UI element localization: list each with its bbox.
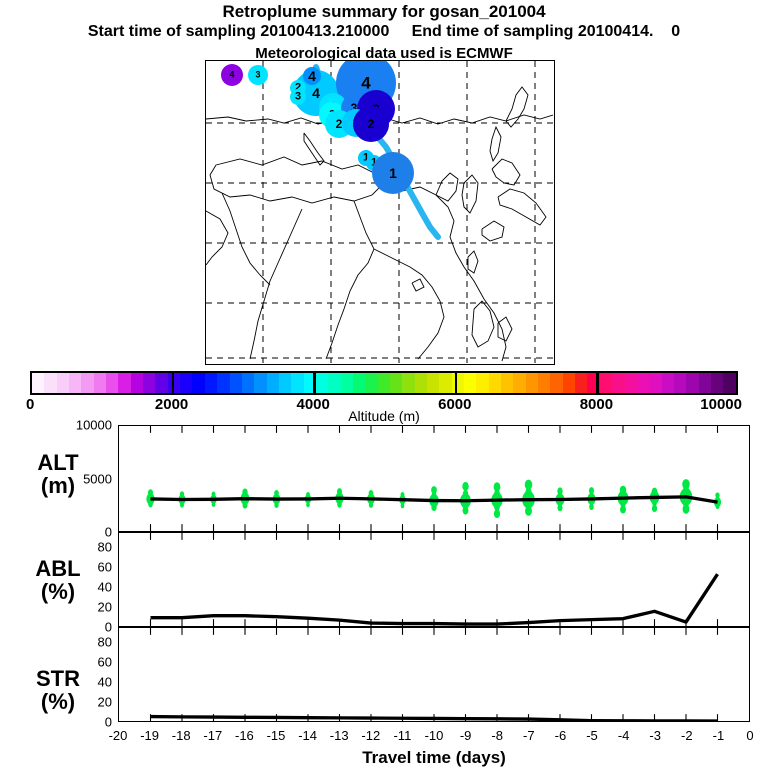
colorbar-swatch (279, 373, 291, 393)
alt-scatter-marker (589, 492, 593, 498)
colorbar-swatch (192, 373, 204, 393)
x-axis-title: Travel time (days) (118, 748, 750, 768)
x-axis-tick: -8 (491, 728, 503, 743)
alt-scatter-marker (494, 503, 500, 511)
colorbar-swatch (600, 373, 612, 393)
colorbar-swatch (464, 373, 476, 393)
abl-y-tick: 60 (30, 560, 112, 575)
colorbar-swatch (452, 373, 464, 393)
colorbar-swatch (94, 373, 106, 393)
colorbar-swatch (205, 373, 217, 393)
colorbar-swatch (143, 373, 155, 393)
colorbar-swatch (550, 373, 562, 393)
x-axis-tick: -9 (460, 728, 472, 743)
map-marker (372, 152, 414, 194)
x-axis-tick: -14 (298, 728, 317, 743)
colorbar-swatch (390, 373, 402, 393)
x-axis-tick: -19 (140, 728, 159, 743)
colorbar-swatch (57, 373, 69, 393)
colorbar-separator (313, 371, 316, 395)
map-marker (353, 106, 389, 142)
alt-scatter-marker (463, 502, 468, 509)
colorbar-swatch (378, 373, 390, 393)
colorbar-swatch (81, 373, 93, 393)
abl-y-tick: 40 (30, 580, 112, 595)
colorbar-swatch (365, 373, 377, 393)
str-panel[interactable] (118, 627, 750, 722)
colorbar-swatch (563, 373, 575, 393)
colorbar-swatch (513, 373, 525, 393)
colorbar-swatch (625, 373, 637, 393)
colorbar-caption: Altitude (m) (0, 408, 768, 424)
map-marker (290, 89, 306, 105)
alt-scatter-marker (683, 499, 689, 508)
colorbar-swatch (538, 373, 550, 393)
colorbar-swatch (723, 373, 735, 393)
x-axis-tick: -1 (713, 728, 725, 743)
x-axis-tick: -3 (649, 728, 661, 743)
alt-y-tick: 5000 (30, 471, 112, 486)
colorbar-swatch (254, 373, 266, 393)
alt-scatter-marker (558, 501, 562, 507)
colorbar-swatch (674, 373, 686, 393)
colorbar-swatch (155, 373, 167, 393)
alt-scatter-marker (463, 490, 468, 497)
retroplume-map[interactable]: 43423442333222111 (205, 60, 555, 365)
colorbar-swatch (612, 373, 624, 393)
alt-scatter-marker (432, 492, 437, 499)
str-y-tick: 60 (30, 655, 112, 670)
colorbar-swatch (230, 373, 242, 393)
colorbar-swatch (328, 373, 340, 393)
x-axis-tick: -15 (267, 728, 286, 743)
alt-scatter-marker (683, 486, 689, 495)
colorbar-swatch (242, 373, 254, 393)
x-axis-tick: -4 (618, 728, 630, 743)
x-axis-tick: -20 (109, 728, 128, 743)
colorbar-swatch (489, 373, 501, 393)
x-axis-tick: -18 (172, 728, 191, 743)
x-axis-tick: -17 (203, 728, 222, 743)
colorbar-separator (172, 371, 175, 395)
colorbar-swatch (575, 373, 587, 393)
colorbar-separator (596, 371, 599, 395)
colorbar-swatch (711, 373, 723, 393)
x-axis-tick: 0 (746, 728, 753, 743)
colorbar-swatch (316, 373, 328, 393)
colorbar-swatch (686, 373, 698, 393)
colorbar-swatch (526, 373, 538, 393)
str-plot-svg (119, 628, 749, 721)
sampling-time-line: Start time of sampling 20100413.210000 E… (0, 23, 768, 41)
colorbar-separator (455, 371, 458, 395)
str-y-tick: 40 (30, 675, 112, 690)
colorbar-swatch (415, 373, 427, 393)
colorbar-swatch (44, 373, 56, 393)
str-y-tick: 0 (30, 715, 112, 730)
colorbar-swatch (106, 373, 118, 393)
alt-scatter-marker (525, 488, 531, 497)
colorbar-swatch (118, 373, 130, 393)
colorbar-swatch (427, 373, 439, 393)
x-axis-tick: -5 (586, 728, 598, 743)
colorbar-swatch (699, 373, 711, 393)
colorbar-swatch (439, 373, 451, 393)
alt-y-tick: 10000 (30, 418, 112, 433)
alt-scatter-marker (462, 482, 468, 491)
colorbar-swatch (476, 373, 488, 393)
colorbar-swatch (69, 373, 81, 393)
alt-scatter-marker (652, 500, 657, 507)
colorbar-swatch (353, 373, 365, 393)
x-axis-tick: -11 (393, 728, 411, 743)
str-y-tick: 80 (30, 635, 112, 650)
abl-y-tick: 20 (30, 600, 112, 615)
alt-scatter-marker (525, 501, 531, 510)
map-marker (221, 64, 243, 86)
x-axis-tick: -10 (425, 728, 444, 743)
alt-scatter-marker (494, 490, 500, 498)
altitude-colorbar[interactable] (30, 371, 738, 395)
alt-plot-svg (119, 426, 749, 531)
x-axis-tick: -16 (235, 728, 254, 743)
colorbar-swatch (341, 373, 353, 393)
alt-y-tick: 0 (30, 525, 112, 540)
alt-scatter-marker (589, 500, 593, 506)
colorbar-swatch (291, 373, 303, 393)
alt-scatter-marker (620, 500, 625, 507)
abl-y-tick: 0 (30, 620, 112, 635)
colorbar-swatch (32, 373, 44, 393)
colorbar-swatch (637, 373, 649, 393)
colorbar-swatch (649, 373, 661, 393)
altitude-panel[interactable] (118, 425, 750, 532)
abl-plot-svg (119, 533, 749, 626)
x-axis-tick: -2 (681, 728, 693, 743)
abl-panel[interactable] (118, 532, 750, 627)
str-y-tick: 20 (30, 695, 112, 710)
colorbar-swatch (217, 373, 229, 393)
alt-scatter-marker (558, 492, 562, 498)
x-axis-tick: -6 (555, 728, 567, 743)
page-title: Retroplume summary for gosan_201004 (0, 2, 768, 22)
colorbar-swatch (662, 373, 674, 393)
colorbar-swatch (501, 373, 513, 393)
colorbar-swatch (131, 373, 143, 393)
x-axis-tick: -12 (361, 728, 380, 743)
colorbar-swatch (267, 373, 279, 393)
map-marker (248, 65, 268, 85)
colorbar-swatch (402, 373, 414, 393)
map-marker (303, 67, 321, 85)
colorbar-swatch (180, 373, 192, 393)
x-axis-tick: -7 (523, 728, 535, 743)
x-axis-tick: -13 (330, 728, 349, 743)
abl-y-tick: 80 (30, 540, 112, 555)
